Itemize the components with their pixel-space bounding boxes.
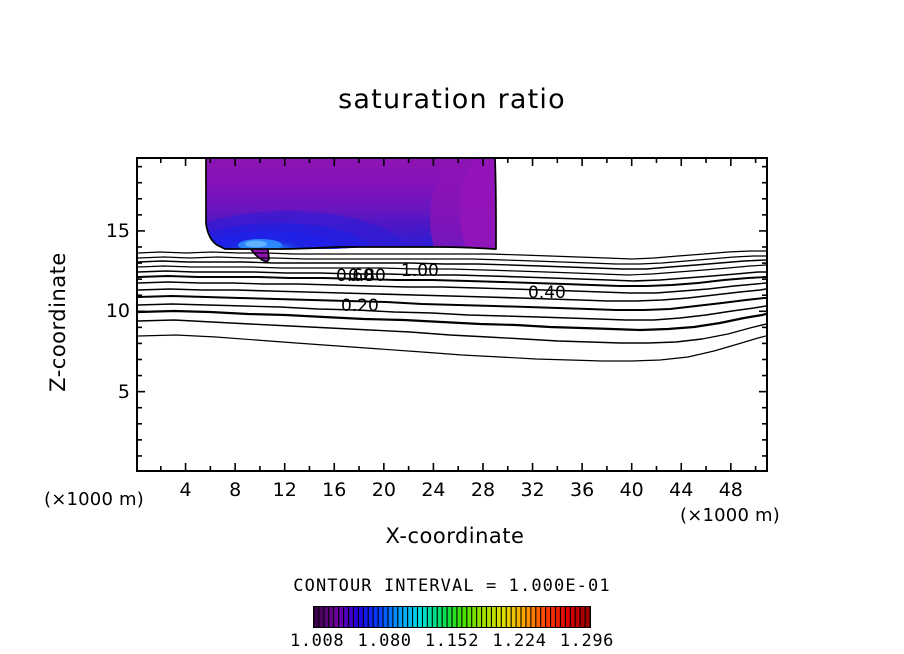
colorbar-cell — [329, 607, 333, 627]
contour-interval-text: CONTOUR INTERVAL = 1.000E-01 — [0, 576, 904, 596]
colorbar-cell — [462, 607, 466, 627]
colorbar-cell — [379, 607, 383, 627]
colorbar-cell — [334, 607, 338, 627]
colorbar-cell — [403, 607, 407, 627]
colorbar-cell — [319, 607, 323, 627]
colorbar-tick-label: 1.080 — [357, 631, 411, 651]
colorbar-cell — [531, 607, 535, 627]
colorbar-cell — [512, 607, 516, 627]
colorbar-cell — [428, 607, 432, 627]
colorbar-cell — [339, 607, 343, 627]
colorbar-cell — [536, 607, 540, 627]
colorbar-cell — [413, 607, 417, 627]
y-tick-label: 10 — [96, 300, 130, 322]
colorbar-cell — [472, 607, 476, 627]
colorbar-cell — [487, 607, 491, 627]
colorbar-cell — [393, 607, 397, 627]
colorbar-cell — [418, 607, 422, 627]
colorbar-cell — [438, 607, 442, 627]
y-tick-label: 5 — [96, 381, 130, 403]
colorbar-cell — [398, 607, 402, 627]
colorbar-cell — [315, 607, 319, 627]
y-axis-tick-labels: 51015 — [96, 0, 130, 654]
colorbar-cell — [344, 607, 348, 627]
colorbar-cell — [354, 607, 358, 627]
colorbar-cell — [541, 607, 545, 627]
colorbar-cell — [502, 607, 506, 627]
colorbar-cell — [586, 607, 590, 627]
colorbar-cell — [423, 607, 427, 627]
colorbar-tick-labels: 1.0081.0801.1521.2241.296 — [290, 631, 614, 651]
colorbar-cell — [571, 607, 575, 627]
colorbar-cell — [384, 607, 388, 627]
colorbar-cell — [576, 607, 580, 627]
colorbar-cell — [546, 607, 550, 627]
colorbar-cell — [448, 607, 452, 627]
colorbar-cell — [551, 607, 555, 627]
colorbar-cell — [517, 607, 521, 627]
colorbar-cell — [526, 607, 530, 627]
colorbar-cell — [467, 607, 471, 627]
colorbar-cell — [443, 607, 447, 627]
colorbar-cell — [566, 607, 570, 627]
colorbar-cell — [457, 607, 461, 627]
colorbar-cell — [522, 607, 526, 627]
colorbar-cell — [492, 607, 496, 627]
colorbar-cell — [433, 607, 437, 627]
colorbar-cell — [359, 607, 363, 627]
colorbar-cell — [453, 607, 457, 627]
colorbar-cell — [408, 607, 412, 627]
colorbar-cell — [324, 607, 328, 627]
y-tick-label: 15 — [96, 220, 130, 242]
colorbar-cell — [581, 607, 585, 627]
colorbar-tick-label: 1.008 — [290, 631, 344, 651]
colorbar[interactable] — [313, 606, 591, 628]
axis-tick-marks — [130, 151, 780, 483]
colorbar-tick-label: 1.296 — [560, 631, 614, 651]
colorbar-cell — [561, 607, 565, 627]
colorbar-cell — [369, 607, 373, 627]
colorbar-cell — [349, 607, 353, 627]
colorbar-cell — [364, 607, 368, 627]
colorbar-cell — [388, 607, 392, 627]
colorbar-tick-label: 1.152 — [425, 631, 479, 651]
colorbar-cell — [556, 607, 560, 627]
colorbar-cell — [497, 607, 501, 627]
colorbar-cell — [482, 607, 486, 627]
colorbar-cell — [477, 607, 481, 627]
colorbar-tick-label: 1.224 — [492, 631, 546, 651]
colorbar-cell — [507, 607, 511, 627]
figure-canvas: saturation ratio Z-coordinate X-coordina… — [0, 0, 904, 654]
colorbar-cell — [374, 607, 378, 627]
